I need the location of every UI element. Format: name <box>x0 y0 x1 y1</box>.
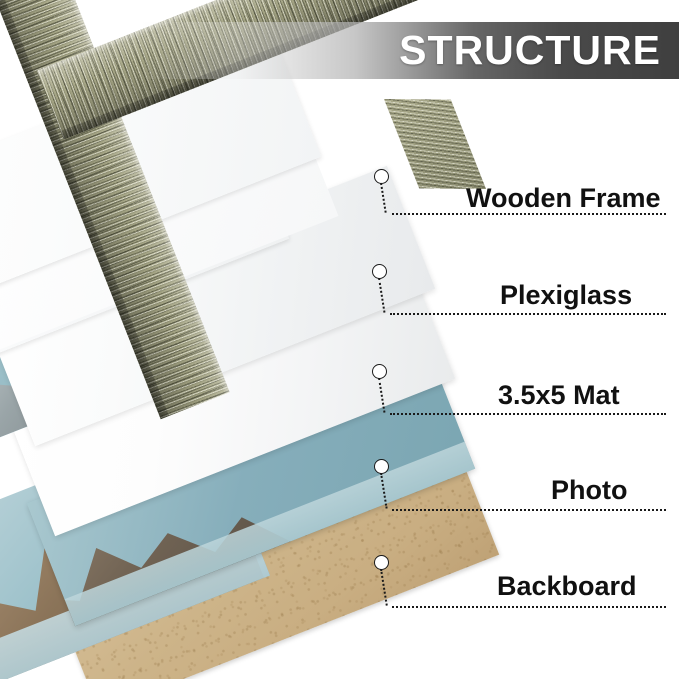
callout-label-backboard: Backboard <box>497 573 637 600</box>
callout-underline-wooden-frame <box>392 213 666 215</box>
callout-label-plexiglass: Plexiglass <box>500 282 632 309</box>
callout-underline-backboard <box>392 606 666 608</box>
banner-title: STRUCTURE <box>399 30 679 71</box>
structure-banner: STRUCTURE <box>139 22 679 79</box>
callout-label-wooden-frame: Wooden Frame <box>466 185 661 212</box>
callout-underline-plexiglass <box>390 313 666 315</box>
product-infographic: STRUCTURE Wooden FramePlexiglass3.5x5 Ma… <box>0 0 679 679</box>
frame-end-grain <box>384 99 486 189</box>
callout-label-photo: Photo <box>551 477 627 504</box>
callout-label-mat: 3.5x5 Mat <box>498 382 620 409</box>
